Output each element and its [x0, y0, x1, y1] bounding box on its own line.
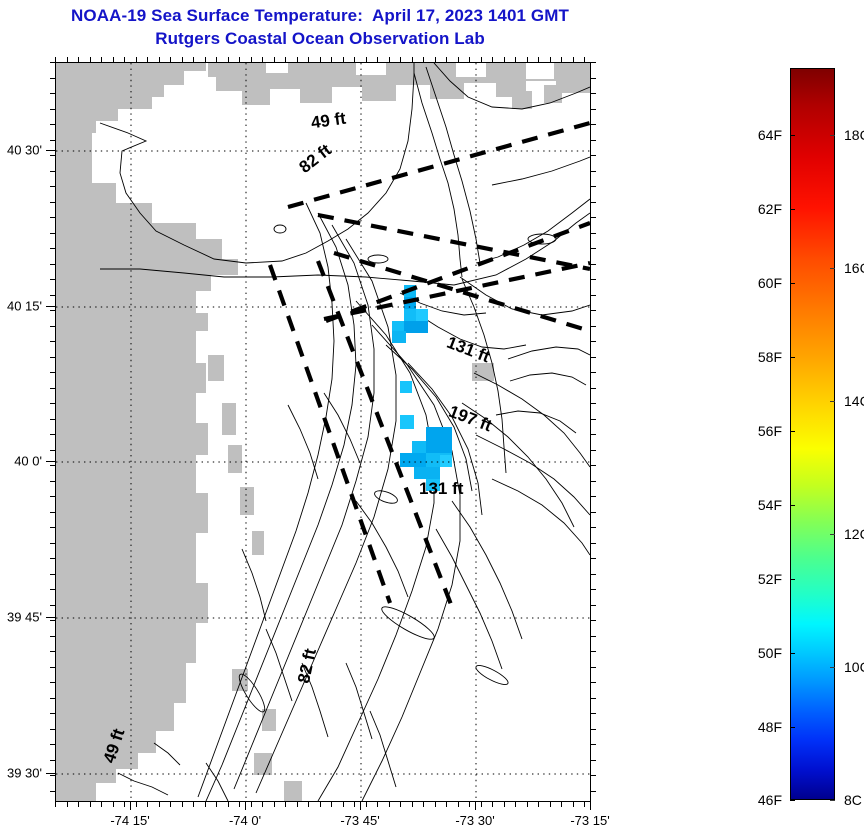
colorbar-tick-f: 48F — [758, 719, 782, 735]
x-tick-minor-top — [412, 57, 413, 62]
y-tick-minor-right — [591, 698, 596, 699]
y-tick-minor-right — [591, 543, 596, 544]
x-tick-minor — [481, 802, 482, 807]
x-tick-minor — [285, 802, 286, 807]
y-tick-minor — [50, 450, 55, 451]
y-tick-minor-right — [591, 248, 596, 249]
y-tick-minor-right — [591, 403, 596, 404]
y-tick-minor-right — [591, 372, 596, 373]
x-tick-minor-top — [435, 57, 436, 62]
x-tick-major — [130, 802, 131, 810]
y-tick-minor-right — [591, 326, 596, 327]
y-tick-minor — [50, 605, 55, 606]
x-tick-minor-top — [285, 57, 286, 62]
y-tick-minor-right — [591, 791, 596, 792]
x-tick-minor-top — [55, 57, 56, 62]
y-tick-minor — [50, 465, 55, 466]
y-tick-minor-right — [591, 574, 596, 575]
x-tick-minor-top — [262, 57, 263, 62]
y-tick-minor-right — [591, 217, 596, 218]
colorbar-tick-f: 64F — [758, 127, 782, 143]
y-tick-minor — [50, 78, 55, 79]
x-tick-minor — [561, 802, 562, 807]
y-tick-minor — [50, 481, 55, 482]
x-tick-minor — [320, 802, 321, 807]
y-tick-minor — [50, 357, 55, 358]
y-tick-minor-right — [591, 388, 596, 389]
x-tick-minor — [331, 802, 332, 807]
colorbar-tickmark-c — [830, 135, 835, 136]
x-tick-minor — [400, 802, 401, 807]
x-tick-minor-top — [377, 57, 378, 62]
y-tick-minor — [50, 388, 55, 389]
colorbar-tickmark-f — [790, 431, 795, 432]
y-tick-minor — [50, 574, 55, 575]
colorbar-tick-f: 54F — [758, 497, 782, 513]
y-tick-minor-right — [591, 357, 596, 358]
y-tick-minor — [50, 713, 55, 714]
y-tick-minor — [50, 155, 55, 156]
x-tick-minor-top — [113, 57, 114, 62]
y-tick-major — [46, 773, 55, 774]
y-tick-major — [46, 150, 55, 151]
colorbar-tick-c: 12C — [844, 526, 864, 542]
x-tick-minor — [458, 802, 459, 807]
x-tick-minor — [90, 802, 91, 807]
x-tick-minor — [527, 802, 528, 807]
x-tick-minor — [205, 802, 206, 807]
x-tick-minor — [435, 802, 436, 807]
sst-data-pixels — [392, 285, 452, 491]
x-tick-minor-top — [101, 57, 102, 62]
x-tick-minor — [308, 802, 309, 807]
x-tick-minor — [423, 802, 424, 807]
y-tick-minor-right — [591, 202, 596, 203]
y-tick-minor — [50, 310, 55, 311]
x-tick-minor-top — [274, 57, 275, 62]
colorbar-tickmark-f — [790, 579, 795, 580]
colorbar-tick-c: 16C — [844, 260, 864, 276]
x-tick-major — [590, 802, 591, 810]
y-tick-minor — [50, 171, 55, 172]
y-tick-minor — [50, 140, 55, 141]
y-tick-minor — [50, 186, 55, 187]
x-tick-minor-top — [159, 57, 160, 62]
x-tick-minor — [78, 802, 79, 807]
y-tick-minor — [50, 589, 55, 590]
x-tick-minor — [228, 802, 229, 807]
map-graphics — [56, 63, 590, 801]
y-axis-label: 40 0' — [0, 454, 42, 469]
y-tick-minor — [50, 434, 55, 435]
x-tick-minor — [55, 802, 56, 807]
colorbar-tick-c: 8C — [844, 792, 862, 808]
x-tick-minor-top — [320, 57, 321, 62]
x-tick-minor — [274, 802, 275, 807]
y-tick-minor-right — [591, 450, 596, 451]
x-tick-minor-top — [205, 57, 206, 62]
x-tick-minor — [573, 802, 574, 807]
page-title: NOAA-19 Sea Surface Temperature: April 1… — [0, 4, 640, 50]
y-tick-minor-right — [591, 729, 596, 730]
y-tick-minor — [50, 217, 55, 218]
colorbar-tickmark-c — [830, 667, 835, 668]
y-tick-minor — [50, 372, 55, 373]
x-tick-minor-top — [308, 57, 309, 62]
y-axis-label: 40 15' — [0, 299, 42, 314]
x-tick-minor-top — [469, 57, 470, 62]
x-tick-minor-top — [297, 57, 298, 62]
x-tick-minor-top — [515, 57, 516, 62]
x-tick-minor — [354, 802, 355, 807]
y-tick-major — [46, 306, 55, 307]
x-tick-minor-top — [170, 57, 171, 62]
y-tick-minor-right — [591, 155, 596, 156]
colorbar-tickmark-f — [790, 727, 795, 728]
x-tick-minor — [251, 802, 252, 807]
title-line-2: Rutgers Coastal Ocean Observation Lab — [0, 27, 640, 50]
y-tick-minor-right — [591, 636, 596, 637]
colorbar-tickmark-c — [830, 401, 835, 402]
x-tick-minor — [389, 802, 390, 807]
x-tick-minor — [262, 802, 263, 807]
y-tick-minor-right — [591, 775, 596, 776]
y-tick-minor — [50, 543, 55, 544]
y-tick-minor — [50, 264, 55, 265]
x-tick-minor-top — [239, 57, 240, 62]
x-tick-minor-top — [124, 57, 125, 62]
x-tick-minor-top — [550, 57, 551, 62]
x-tick-minor-top — [366, 57, 367, 62]
colorbar-tick-f: 58F — [758, 349, 782, 365]
y-axis-label: 40 30' — [0, 143, 42, 158]
y-tick-minor-right — [591, 124, 596, 125]
colorbar-tick-c: 10C — [844, 659, 864, 675]
x-tick-minor-top — [573, 57, 574, 62]
y-tick-minor-right — [591, 481, 596, 482]
x-tick-minor — [124, 802, 125, 807]
y-tick-minor-right — [591, 419, 596, 420]
colorbar-tickmark-f — [790, 135, 795, 136]
y-tick-minor-right — [591, 605, 596, 606]
y-tick-minor-right — [591, 512, 596, 513]
y-tick-minor — [50, 760, 55, 761]
x-tick-minor-top — [136, 57, 137, 62]
colorbar-gradient — [790, 68, 835, 800]
x-tick-minor-top — [423, 57, 424, 62]
y-tick-minor-right — [591, 465, 596, 466]
y-tick-minor — [50, 295, 55, 296]
x-tick-major — [245, 802, 246, 810]
y-tick-minor — [50, 496, 55, 497]
colorbar-tickmark-f — [790, 505, 795, 506]
sst-map[interactable]: 49 ft 82 ft 131 ft 197 ft 131 ft 82 ft 4… — [55, 62, 591, 802]
y-tick-minor-right — [591, 93, 596, 94]
x-axis-label: -73 15' — [570, 813, 609, 828]
colorbar-tickmark-c — [830, 800, 835, 801]
y-tick-minor — [50, 775, 55, 776]
colorbar[interactable]: 64F62F60F58F56F54F52F50F48F46F18C16C14C1… — [790, 68, 835, 800]
y-tick-minor — [50, 791, 55, 792]
y-tick-minor — [50, 403, 55, 404]
y-tick-minor — [50, 233, 55, 234]
colorbar-tickmark-f — [790, 800, 795, 801]
y-axis-label: 39 30' — [0, 766, 42, 781]
x-tick-minor — [239, 802, 240, 807]
y-tick-minor — [50, 620, 55, 621]
x-tick-minor-top — [481, 57, 482, 62]
y-tick-minor — [50, 698, 55, 699]
x-tick-minor-top — [458, 57, 459, 62]
x-tick-minor-top — [354, 57, 355, 62]
colorbar-tickmark-f — [790, 209, 795, 210]
x-tick-minor-top — [446, 57, 447, 62]
colorbar-tickmark-f — [790, 653, 795, 654]
x-tick-minor — [297, 802, 298, 807]
y-tick-minor — [50, 744, 55, 745]
x-tick-minor-top — [228, 57, 229, 62]
y-tick-minor — [50, 527, 55, 528]
y-tick-minor — [50, 62, 55, 63]
x-tick-minor — [550, 802, 551, 807]
y-tick-major — [46, 461, 55, 462]
y-tick-minor-right — [591, 744, 596, 745]
x-tick-minor — [469, 802, 470, 807]
y-tick-minor — [50, 326, 55, 327]
y-tick-minor-right — [591, 496, 596, 497]
x-tick-minor-top — [90, 57, 91, 62]
x-tick-minor-top — [504, 57, 505, 62]
x-tick-major — [475, 802, 476, 810]
y-tick-minor — [50, 109, 55, 110]
x-axis-label: -73 45' — [340, 813, 379, 828]
y-tick-minor — [50, 667, 55, 668]
x-tick-minor-top — [527, 57, 528, 62]
colorbar-tick-c: 14C — [844, 393, 864, 409]
colorbar-tick-f: 46F — [758, 792, 782, 808]
y-tick-minor-right — [591, 589, 596, 590]
x-tick-major — [360, 802, 361, 810]
x-tick-minor-top — [182, 57, 183, 62]
y-tick-minor-right — [591, 713, 596, 714]
x-tick-minor — [584, 802, 585, 807]
x-tick-minor-top — [538, 57, 539, 62]
x-tick-minor-top — [492, 57, 493, 62]
y-tick-major — [46, 617, 55, 618]
x-tick-minor — [515, 802, 516, 807]
y-tick-minor — [50, 651, 55, 652]
x-tick-minor — [182, 802, 183, 807]
x-tick-minor — [101, 802, 102, 807]
y-tick-minor — [50, 202, 55, 203]
x-axis-label: -73 30' — [455, 813, 494, 828]
y-tick-minor — [50, 124, 55, 125]
x-tick-minor — [504, 802, 505, 807]
y-tick-minor-right — [591, 62, 596, 63]
y-tick-minor-right — [591, 310, 596, 311]
x-tick-minor-top — [251, 57, 252, 62]
x-tick-minor-top — [561, 57, 562, 62]
y-tick-minor — [50, 93, 55, 94]
x-tick-minor — [377, 802, 378, 807]
x-tick-minor — [412, 802, 413, 807]
y-tick-minor — [50, 279, 55, 280]
x-tick-minor-top — [389, 57, 390, 62]
y-tick-minor — [50, 682, 55, 683]
y-tick-minor — [50, 341, 55, 342]
y-tick-minor — [50, 512, 55, 513]
y-tick-minor-right — [591, 140, 596, 141]
y-tick-minor-right — [591, 186, 596, 187]
y-tick-minor-right — [591, 651, 596, 652]
x-tick-minor — [193, 802, 194, 807]
y-axis-label: 39 45' — [0, 610, 42, 625]
y-tick-minor-right — [591, 109, 596, 110]
x-tick-minor — [136, 802, 137, 807]
y-tick-minor — [50, 729, 55, 730]
x-tick-minor-top — [193, 57, 194, 62]
y-tick-minor-right — [591, 667, 596, 668]
colorbar-tick-f: 60F — [758, 275, 782, 291]
title-line-1: NOAA-19 Sea Surface Temperature: April 1… — [0, 4, 640, 27]
y-tick-minor-right — [591, 558, 596, 559]
colorbar-tick-f: 52F — [758, 571, 782, 587]
x-tick-minor — [113, 802, 114, 807]
x-tick-minor-top — [147, 57, 148, 62]
y-tick-minor-right — [591, 682, 596, 683]
x-tick-minor — [67, 802, 68, 807]
x-tick-minor — [170, 802, 171, 807]
y-tick-minor-right — [591, 233, 596, 234]
transect-lines — [270, 123, 590, 607]
x-axis-label: -74 0' — [229, 813, 261, 828]
y-tick-minor-right — [591, 279, 596, 280]
x-tick-minor — [147, 802, 148, 807]
y-tick-minor-right — [591, 434, 596, 435]
x-tick-minor-top — [584, 57, 585, 62]
x-tick-minor — [538, 802, 539, 807]
colorbar-tickmark-c — [830, 534, 835, 535]
x-tick-minor — [492, 802, 493, 807]
x-tick-minor — [366, 802, 367, 807]
y-tick-minor-right — [591, 171, 596, 172]
y-tick-minor-right — [591, 620, 596, 621]
y-tick-minor-right — [591, 78, 596, 79]
colorbar-tickmark-c — [830, 268, 835, 269]
x-tick-minor — [216, 802, 217, 807]
x-tick-minor — [343, 802, 344, 807]
y-tick-minor-right — [591, 527, 596, 528]
colorbar-tick-f: 50F — [758, 645, 782, 661]
x-tick-minor — [159, 802, 160, 807]
colorbar-tick-f: 56F — [758, 423, 782, 439]
x-tick-minor-top — [331, 57, 332, 62]
x-tick-minor-top — [400, 57, 401, 62]
x-tick-minor-top — [67, 57, 68, 62]
y-tick-minor-right — [591, 295, 596, 296]
x-tick-minor-top — [216, 57, 217, 62]
x-tick-minor-top — [343, 57, 344, 62]
depth-label: 131 ft — [419, 479, 463, 499]
colorbar-tick-c: 18C — [844, 127, 864, 143]
colorbar-tickmark-f — [790, 357, 795, 358]
y-tick-minor — [50, 419, 55, 420]
y-tick-minor — [50, 248, 55, 249]
colorbar-tick-f: 62F — [758, 201, 782, 217]
y-tick-minor-right — [591, 264, 596, 265]
x-tick-minor-top — [78, 57, 79, 62]
x-axis-label: -74 15' — [110, 813, 149, 828]
y-tick-minor-right — [591, 760, 596, 761]
x-tick-minor — [446, 802, 447, 807]
colorbar-tickmark-f — [790, 283, 795, 284]
y-tick-minor-right — [591, 341, 596, 342]
y-tick-minor — [50, 636, 55, 637]
y-tick-minor — [50, 558, 55, 559]
